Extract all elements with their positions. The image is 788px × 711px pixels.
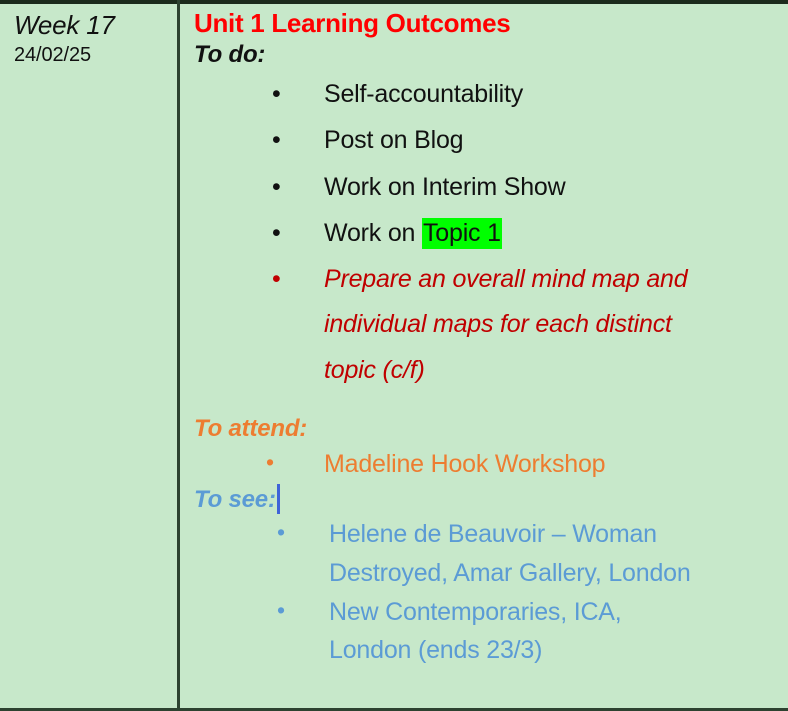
bullet-icon: •	[272, 71, 281, 118]
list-item-line: Helene de Beauvoir – Woman	[329, 520, 657, 548]
see-section-text: To see:	[194, 486, 276, 513]
bullet-icon: •	[272, 117, 281, 164]
weekly-planner-table: Week 17 24/02/25 Unit 1 Learning Outcome…	[0, 0, 788, 711]
list-item-line: Prepare an overall mind map and	[324, 265, 687, 293]
bullet-icon: •	[266, 444, 274, 481]
attend-section-label: To attend:	[194, 415, 788, 444]
text-cursor-caret	[277, 484, 280, 514]
bullet-icon: •	[272, 257, 281, 303]
list-item-emphasis: • Prepare an overall mind map and indivi…	[194, 257, 788, 394]
list-item-highlighted: • Work on Topic 1	[194, 210, 788, 257]
list-item-line: New Contemporaries, ICA,	[329, 598, 622, 626]
see-section-label: To see:	[194, 484, 788, 515]
todo-list: • Self-accountability • Post on Blog • W…	[194, 71, 788, 394]
todo-section-label: To do:	[194, 40, 788, 70]
bullet-icon: •	[272, 210, 281, 257]
list-item-line: individual maps for each distinct	[324, 310, 672, 338]
see-list: • Helene de Beauvoir – Woman Destroyed, …	[194, 515, 788, 670]
list-item-line: topic (c/f)	[324, 356, 425, 384]
highlight-badge: Topic 1	[422, 218, 502, 249]
list-item-label: Work on	[324, 219, 422, 247]
list-item-line: London (ends 23/3)	[329, 636, 542, 664]
list-item: • Helene de Beauvoir – Woman Destroyed, …	[194, 515, 788, 593]
list-item-label: Self-accountability	[324, 80, 523, 108]
week-label: Week 17	[14, 10, 177, 42]
bullet-icon: •	[272, 164, 281, 211]
list-item: • Madeline Hook Workshop	[194, 444, 788, 485]
week-date: 24/02/25	[14, 42, 177, 68]
list-item: • New Contemporaries, ICA, London (ends …	[194, 593, 788, 671]
list-item: • Work on Interim Show	[194, 164, 788, 211]
list-item: • Post on Blog	[194, 117, 788, 164]
list-item-label: Madeline Hook Workshop	[324, 450, 605, 478]
week-cell: Week 17 24/02/25	[0, 4, 177, 708]
page-title: Unit 1 Learning Outcomes	[194, 7, 788, 40]
attend-list: • Madeline Hook Workshop	[194, 444, 788, 485]
list-item-line: Destroyed, Amar Gallery, London	[329, 559, 691, 587]
outcomes-cell: Unit 1 Learning Outcomes To do: • Self-a…	[180, 4, 788, 708]
list-item: • Self-accountability	[194, 71, 788, 118]
list-item-label: Post on Blog	[324, 126, 463, 154]
list-item-label: Work on Interim Show	[324, 173, 565, 201]
bullet-icon: •	[277, 593, 285, 629]
bullet-icon: •	[277, 515, 285, 551]
